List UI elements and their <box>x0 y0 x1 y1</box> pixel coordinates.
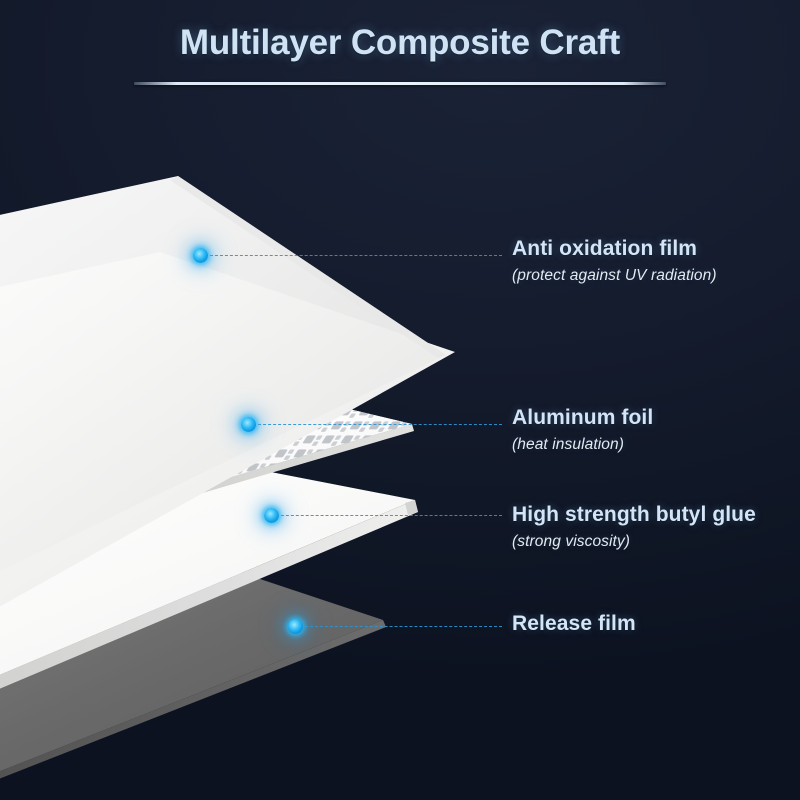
leader-line-butyl-glue <box>271 515 502 516</box>
label-anti-oxidation-film: Anti oxidation film (protect against UV … <box>512 236 717 287</box>
leader-line-anti-oxidation-film <box>200 255 502 256</box>
leader-line-release-film <box>295 626 502 627</box>
callout-dot-butyl-glue[interactable] <box>264 508 279 523</box>
label-release-film: Release film <box>512 611 636 637</box>
label-sub-anti-oxidation-film: (protect against UV radiation) <box>512 265 717 287</box>
label-title-release-film: Release film <box>512 611 636 637</box>
label-title-butyl-glue: High strength butyl glue <box>512 502 756 528</box>
label-title-aluminum-foil: Aluminum foil <box>512 405 653 431</box>
label-butyl-glue: High strength butyl glue (strong viscosi… <box>512 502 756 553</box>
label-sub-butyl-glue: (strong viscosity) <box>512 531 756 553</box>
diagram-canvas: Multilayer Composite Craft <box>0 0 800 800</box>
leader-line-aluminum-foil <box>248 424 502 425</box>
label-aluminum-foil: Aluminum foil (heat insulation) <box>512 405 653 456</box>
label-title-anti-oxidation-film: Anti oxidation film <box>512 236 717 262</box>
callout-dot-anti-oxidation-film[interactable] <box>193 248 208 263</box>
callout-dot-release-film[interactable] <box>288 619 303 634</box>
callout-dot-aluminum-foil[interactable] <box>241 417 256 432</box>
label-sub-aluminum-foil: (heat insulation) <box>512 434 653 456</box>
layer-stack-illustration <box>0 0 800 800</box>
